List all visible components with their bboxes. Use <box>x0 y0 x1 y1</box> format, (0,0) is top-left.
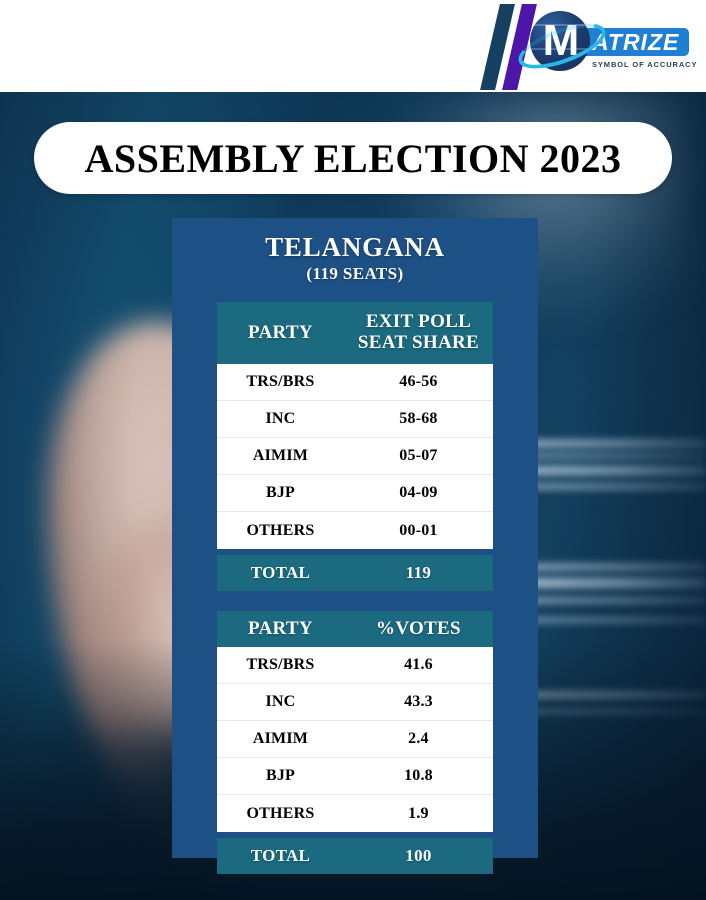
poster: ATRIZE M SYMBOL OF ACCURACY ASSEMBLY ELE… <box>0 0 706 900</box>
table-row: BJP 04-09 <box>217 475 493 512</box>
row-party: OTHERS <box>217 805 344 823</box>
vote-table-total-row: TOTAL 100 <box>217 838 493 874</box>
row-value: 04-09 <box>344 484 493 502</box>
row-party: TRS/BRS <box>217 373 344 391</box>
table-row: BJP 10.8 <box>217 758 493 795</box>
vote-share-table: PARTY %VOTES TRS/BRS 41.6 INC 43.3 AIMIM… <box>217 611 493 874</box>
total-value: 119 <box>344 563 493 583</box>
row-value: 46-56 <box>344 373 493 391</box>
table-row: OTHERS 1.9 <box>217 795 493 832</box>
results-card: TELANGANA (119 SEATS) PARTY EXIT POLL SE… <box>172 218 538 858</box>
table-row: OTHERS 00-01 <box>217 512 493 549</box>
row-party: TRS/BRS <box>217 656 344 674</box>
seat-table-header: PARTY EXIT POLL SEAT SHARE <box>217 302 493 364</box>
table-row: TRS/BRS 46-56 <box>217 364 493 401</box>
row-party: INC <box>217 410 344 428</box>
row-value: 00-01 <box>344 522 493 540</box>
row-party: BJP <box>217 767 344 785</box>
row-value: 58-68 <box>344 410 493 428</box>
vote-header-value: %VOTES <box>344 619 493 640</box>
brand-logo: ATRIZE M SYMBOL OF ACCURACY <box>482 2 700 94</box>
row-value: 05-07 <box>344 447 493 465</box>
seat-share-table: PARTY EXIT POLL SEAT SHARE TRS/BRS 46-56… <box>217 302 493 591</box>
seat-table-body: TRS/BRS 46-56 INC 58-68 AIMIM 05-07 BJP … <box>217 364 493 549</box>
vote-table-body: TRS/BRS 41.6 INC 43.3 AIMIM 2.4 BJP 10.8… <box>217 647 493 832</box>
seat-table-total-row: TOTAL 119 <box>217 555 493 591</box>
row-party: BJP <box>217 484 344 502</box>
row-value: 43.3 <box>344 693 493 711</box>
seat-header-party: PARTY <box>217 323 344 344</box>
page-title: ASSEMBLY ELECTION 2023 <box>84 135 621 182</box>
table-row: INC 43.3 <box>217 684 493 721</box>
title-banner: ASSEMBLY ELECTION 2023 <box>34 122 672 194</box>
state-name: TELANGANA <box>172 232 538 263</box>
row-party: OTHERS <box>217 522 344 540</box>
brand-tagline: SYMBOL OF ACCURACY <box>592 60 697 69</box>
table-row: INC 58-68 <box>217 401 493 438</box>
table-row: AIMIM 05-07 <box>217 438 493 475</box>
row-value: 1.9 <box>344 805 493 823</box>
table-row: AIMIM 2.4 <box>217 721 493 758</box>
row-party: INC <box>217 693 344 711</box>
row-value: 41.6 <box>344 656 493 674</box>
seat-header-value: EXIT POLL SEAT SHARE <box>344 312 493 353</box>
row-value: 2.4 <box>344 730 493 748</box>
total-label: TOTAL <box>217 846 344 866</box>
vote-table-header: PARTY %VOTES <box>217 611 493 647</box>
vote-header-party: PARTY <box>217 619 344 640</box>
total-label: TOTAL <box>217 563 344 583</box>
row-party: AIMIM <box>217 730 344 748</box>
table-row: TRS/BRS 41.6 <box>217 647 493 684</box>
total-value: 100 <box>344 846 493 866</box>
row-value: 10.8 <box>344 767 493 785</box>
state-seats-label: (119 SEATS) <box>172 264 538 284</box>
row-party: AIMIM <box>217 447 344 465</box>
